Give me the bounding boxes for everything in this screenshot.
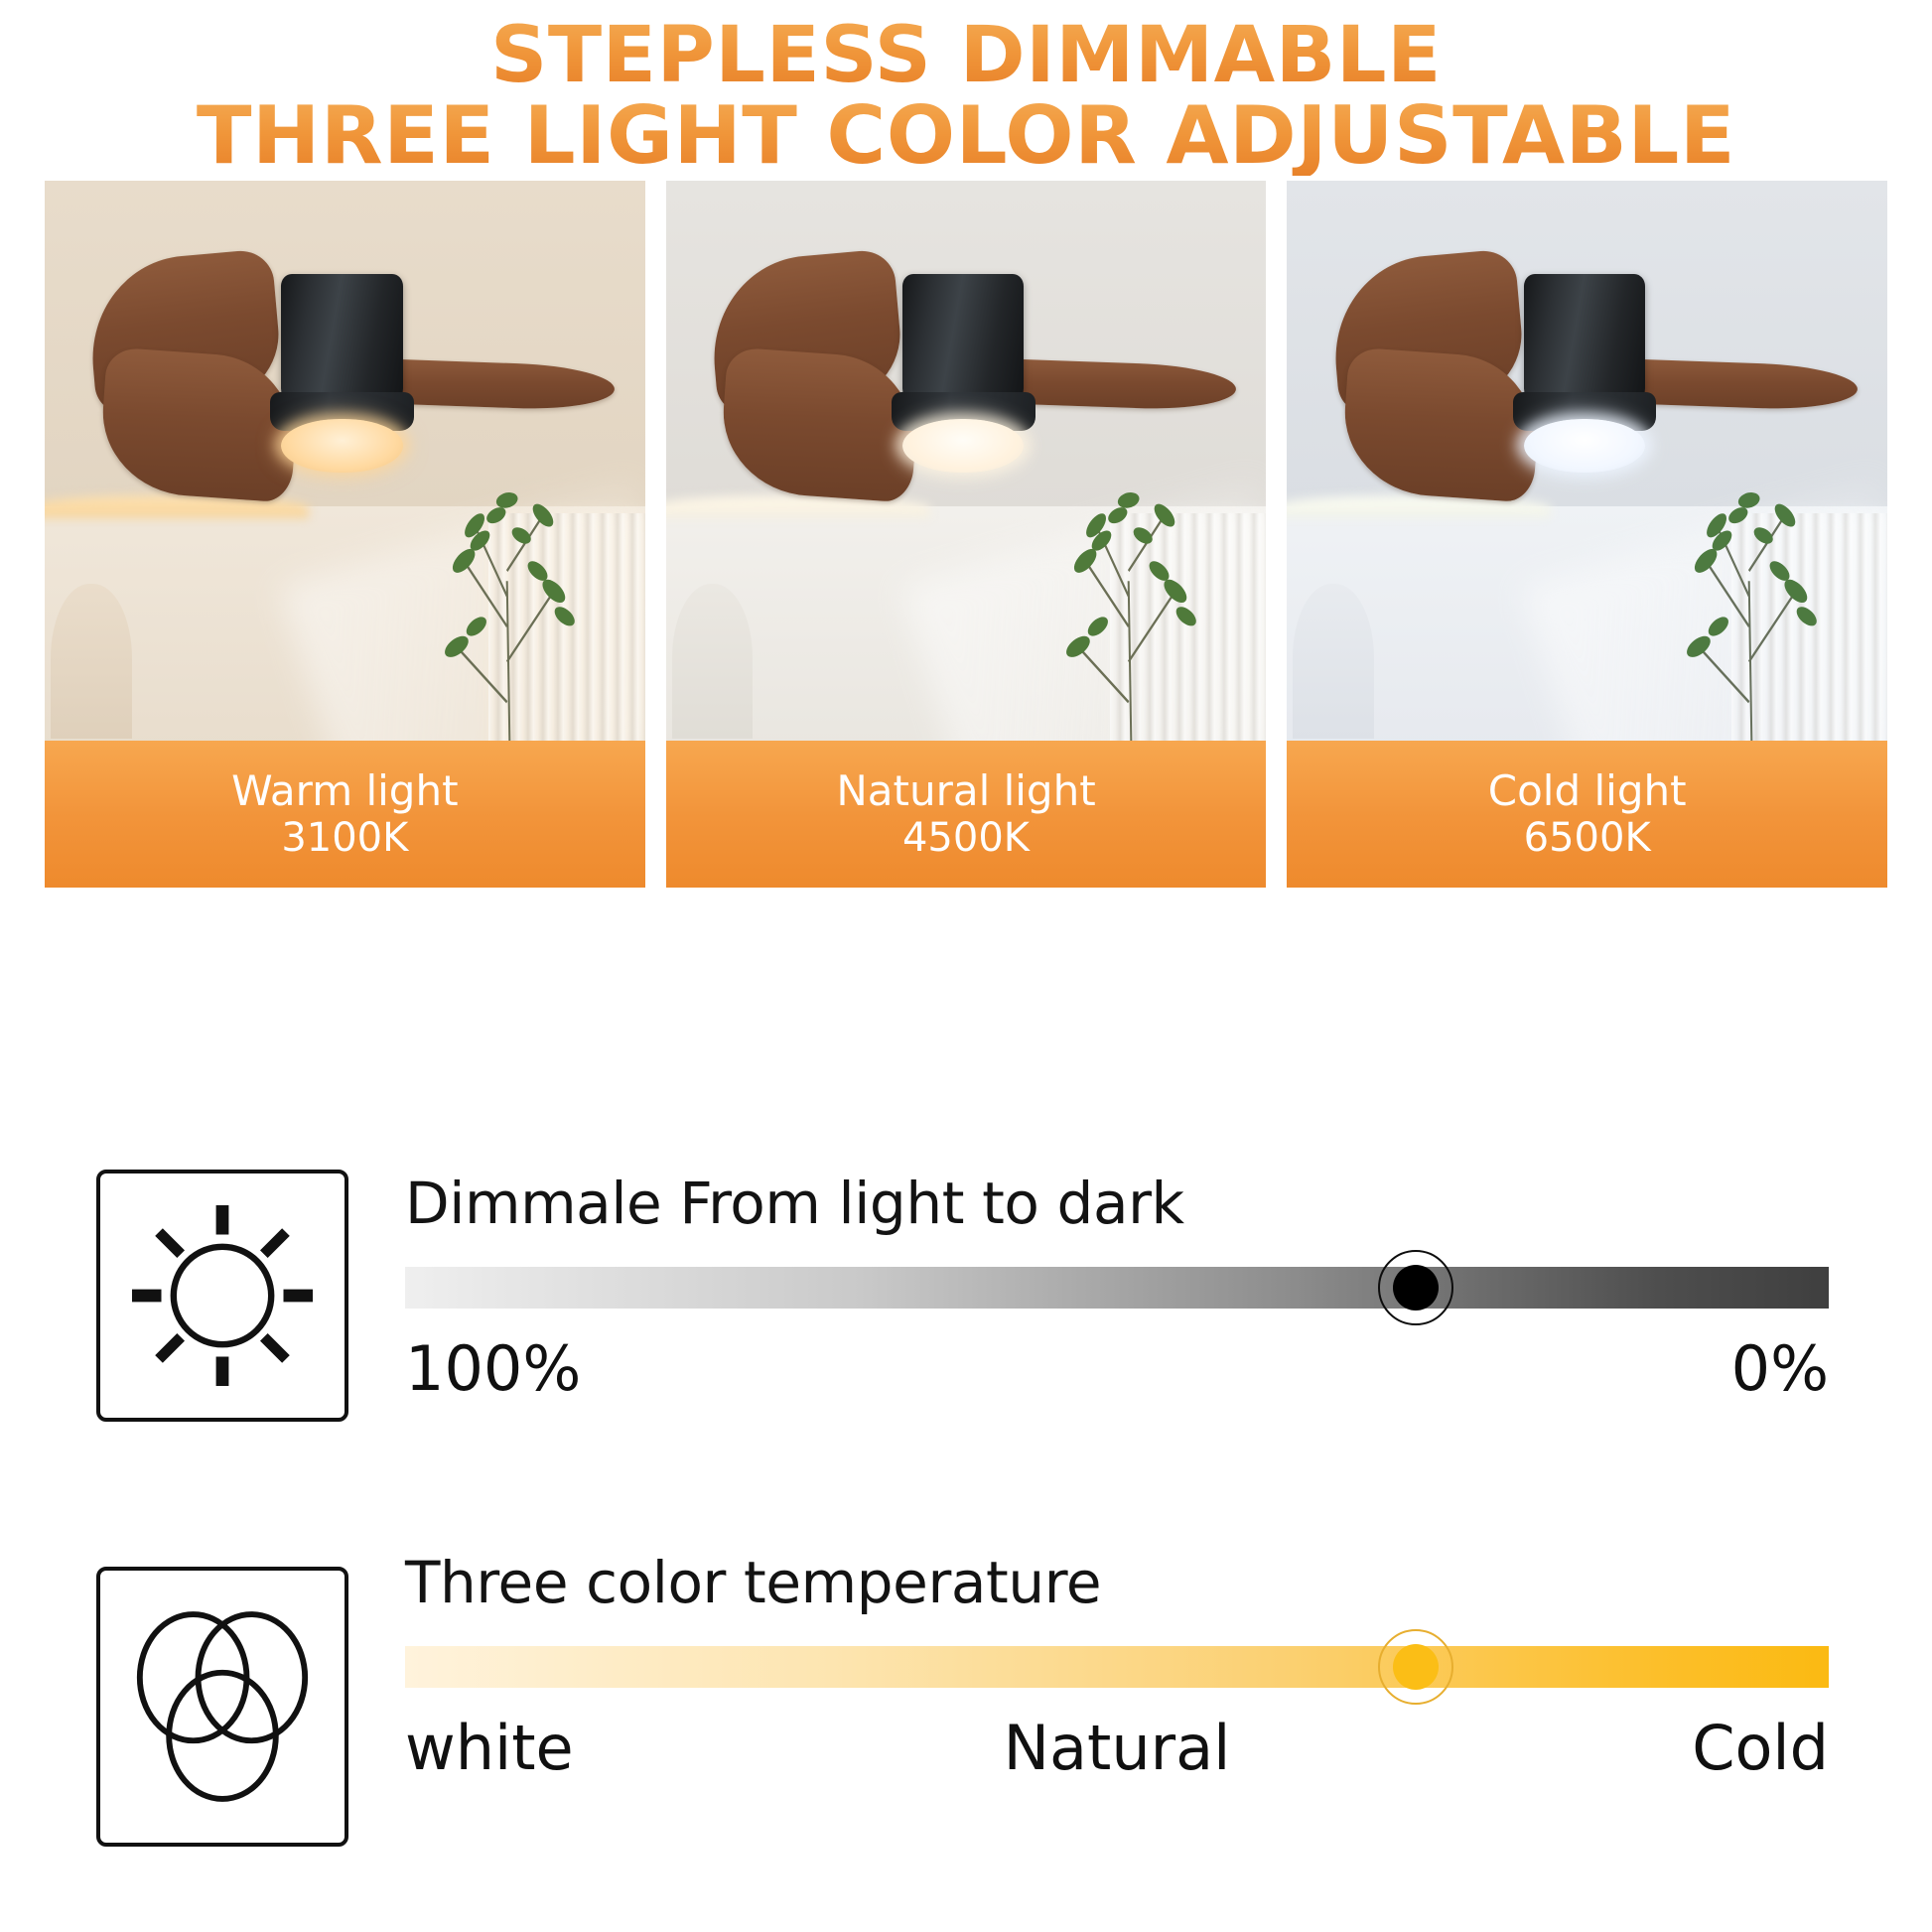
dimming-slider-handle[interactable]	[1378, 1250, 1453, 1325]
caption-name: Natural light	[836, 767, 1095, 814]
dimming-body: Dimmale From light to dark 100% 0%	[405, 1170, 1872, 1412]
light-panel-natural: Natural light 4500K	[666, 181, 1267, 888]
color-temperature-slider-handle[interactable]	[1378, 1629, 1453, 1705]
led-light-disc	[1524, 419, 1645, 473]
fan-blade	[97, 347, 300, 503]
caption-kelvin: 3100K	[281, 816, 408, 861]
dimming-scale-right: 0%	[1731, 1332, 1829, 1405]
feature-color-temperature: Three color temperature white Natural Co…	[0, 1549, 1932, 1847]
caption-warm: Warm light 3100K	[45, 741, 645, 888]
caption-kelvin: 6500K	[1524, 816, 1651, 861]
three-circles-icon	[96, 1567, 348, 1847]
dimming-title: Dimmale From light to dark	[405, 1170, 1872, 1237]
wall-alcove	[1293, 584, 1374, 740]
caption-cold: Cold light 6500K	[1287, 741, 1887, 888]
wall-alcove	[51, 584, 132, 740]
color-temperature-slider-track[interactable]	[405, 1646, 1829, 1688]
ceiling-fan-natural	[690, 223, 1242, 520]
fan-motor-housing	[281, 274, 402, 408]
headline-line-1: STEPLESS DIMMABLE	[0, 18, 1932, 93]
fan-blade	[1339, 347, 1542, 503]
ceiling-fan-cold	[1311, 223, 1863, 520]
color-temperature-scale: white Natural Cold	[405, 1712, 1829, 1791]
fan-motor-housing	[1524, 274, 1645, 408]
fan-motor-housing	[902, 274, 1024, 408]
page-title: STEPLESS DIMMABLE THREE LIGHT COLOR ADJU…	[0, 18, 1932, 176]
light-panel-cold: Cold light 6500K	[1287, 181, 1887, 888]
light-color-panel-row: Warm light 3100K	[45, 181, 1887, 888]
handle-dot	[1393, 1644, 1439, 1690]
feature-dimming: Dimmale From light to dark 100% 0%	[0, 1170, 1932, 1428]
caption-name: Cold light	[1488, 767, 1687, 814]
color-temperature-title: Three color temperature	[405, 1549, 1872, 1616]
led-light-disc	[902, 419, 1024, 473]
dimming-slider-track[interactable]	[405, 1267, 1829, 1309]
dimming-scale: 100% 0%	[405, 1332, 1829, 1412]
temperature-scale-white: white	[405, 1712, 574, 1784]
caption-kelvin: 4500K	[902, 816, 1030, 861]
color-temperature-body: Three color temperature white Natural Co…	[405, 1549, 1872, 1791]
temperature-scale-natural: Natural	[1004, 1712, 1231, 1784]
led-light-disc	[281, 419, 402, 473]
light-panel-warm: Warm light 3100K	[45, 181, 645, 888]
dimming-scale-left: 100%	[405, 1332, 581, 1405]
headline-line-2: THREE LIGHT COLOR ADJUSTABLE	[0, 97, 1932, 175]
fan-blade	[718, 347, 920, 503]
sun-icon	[96, 1170, 348, 1422]
caption-name: Warm light	[231, 767, 458, 814]
caption-natural: Natural light 4500K	[666, 741, 1267, 888]
wall-alcove	[672, 584, 754, 740]
dimming-slider[interactable]	[405, 1267, 1829, 1309]
ceiling-fan-warm	[69, 223, 621, 520]
handle-dot	[1393, 1265, 1439, 1311]
temperature-scale-cold: Cold	[1692, 1712, 1829, 1784]
color-temperature-slider[interactable]	[405, 1646, 1829, 1688]
